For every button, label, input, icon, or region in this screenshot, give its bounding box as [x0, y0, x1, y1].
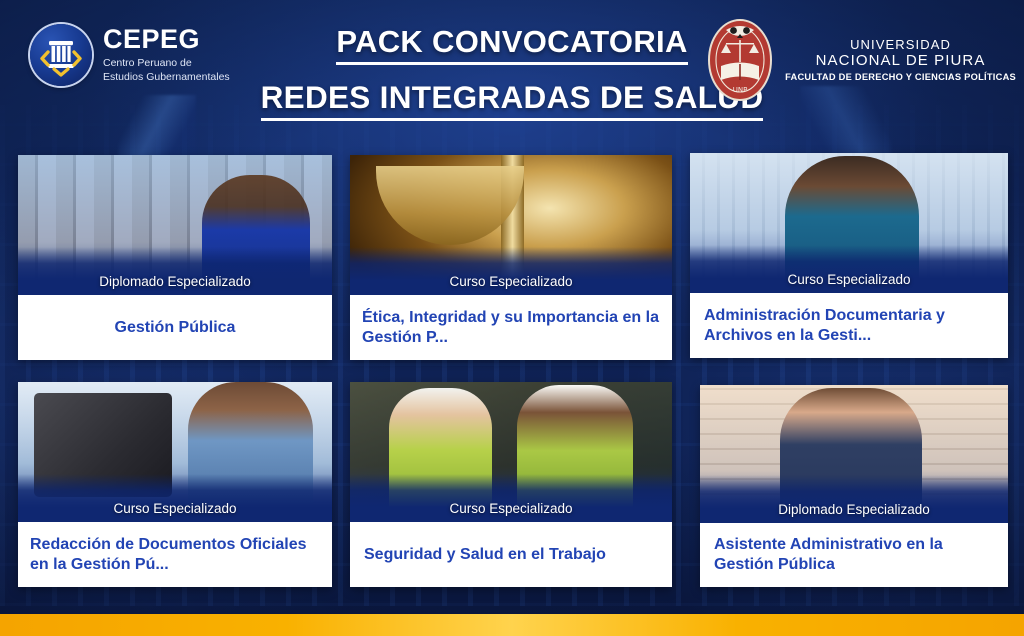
course-badge-label: Diplomado Especializado	[99, 274, 251, 289]
course-image: Curso Especializado	[350, 382, 672, 522]
university-logo: UNP UNIVERSIDAD NACIONAL DE PIURA FACULT…	[704, 16, 1016, 104]
course-image: Diplomado Especializado	[700, 385, 1008, 523]
gold-bottom-bar	[0, 614, 1024, 636]
course-card[interactable]: Diplomado Especializado Gestión Pública	[18, 155, 332, 360]
course-card[interactable]: Diplomado Especializado Asistente Admini…	[700, 385, 1008, 587]
course-card[interactable]: Curso Especializado Seguridad y Salud en…	[350, 382, 672, 587]
promotional-poster: CEPEG Centro Peruano de Estudios Guberna…	[0, 0, 1024, 636]
course-card[interactable]: Curso Especializado Ética, Integridad y …	[350, 155, 672, 360]
cepeg-logo: CEPEG Centro Peruano de Estudios Guberna…	[30, 24, 230, 86]
cepeg-subtitle-line1: Centro Peruano de	[103, 57, 230, 70]
course-title: Asistente Administrativo en la Gestión P…	[700, 523, 1008, 587]
course-badge-label: Diplomado Especializado	[778, 502, 930, 517]
course-image: Curso Especializado	[350, 155, 672, 295]
university-line-2: NACIONAL DE PIURA	[816, 52, 986, 69]
university-line-3: FACULTAD DE DERECHO Y CIENCIAS POLÍTICAS	[785, 72, 1016, 83]
course-title: Redacción de Documentos Oficiales en la …	[18, 522, 332, 587]
course-badge: Curso Especializado	[350, 474, 672, 522]
unp-crest-icon: UNP	[704, 16, 776, 104]
course-badge: Diplomado Especializado	[18, 247, 332, 295]
course-title: Administración Documentaria y Archivos e…	[690, 293, 1008, 358]
course-title: Seguridad y Salud en el Trabajo	[350, 522, 672, 587]
course-card[interactable]: Curso Especializado Redacción de Documen…	[18, 382, 332, 587]
cepeg-subtitle-line2: Estudios Gubernamentales	[103, 71, 230, 84]
course-badge-label: Curso Especializado	[113, 501, 236, 516]
course-badge-label: Curso Especializado	[449, 274, 572, 289]
course-badge-label: Curso Especializado	[449, 501, 572, 516]
course-image: Diplomado Especializado	[18, 155, 332, 295]
course-card[interactable]: Curso Especializado Administración Docum…	[690, 153, 1008, 358]
course-badge: Curso Especializado	[690, 245, 1008, 293]
course-badge: Diplomado Especializado	[700, 475, 1008, 523]
course-image: Curso Especializado	[690, 153, 1008, 293]
poster-header: CEPEG Centro Peruano de Estudios Guberna…	[0, 0, 1024, 130]
column-temple-icon	[30, 24, 92, 86]
course-image: Curso Especializado	[18, 382, 332, 522]
course-title: Gestión Pública	[18, 295, 332, 360]
crest-abbr: UNP	[733, 86, 748, 94]
course-badge-label: Curso Especializado	[787, 272, 910, 287]
title-line-1: PACK CONVOCATORIA	[336, 24, 687, 65]
title-line-2: REDES INTEGRADAS DE SALUD	[261, 79, 764, 121]
course-title: Ética, Integridad y su Importancia en la…	[350, 295, 672, 360]
course-badge: Curso Especializado	[350, 247, 672, 295]
cepeg-name: CEPEG	[103, 26, 230, 53]
poster-title: PACK CONVOCATORIA REDES INTEGRADAS DE SA…	[240, 24, 784, 121]
university-line-1: UNIVERSIDAD	[850, 37, 951, 52]
course-badge: Curso Especializado	[18, 474, 332, 522]
